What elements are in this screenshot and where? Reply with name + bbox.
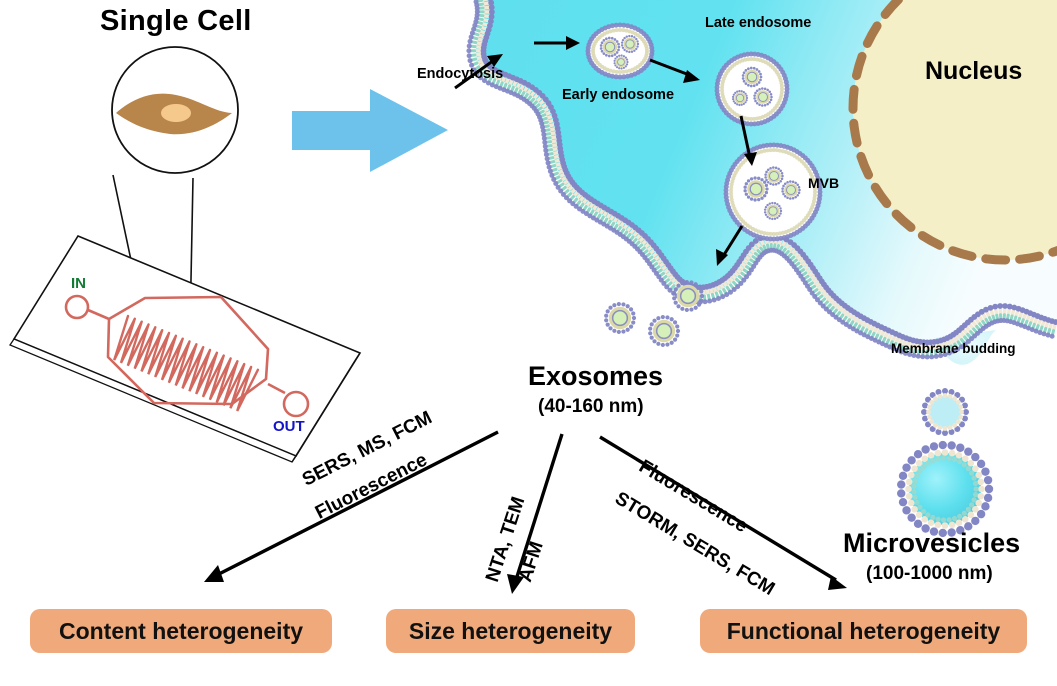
exosomes-size: (40-160 nm)	[538, 396, 644, 418]
label-membrane-budding: Membrane budding	[891, 341, 1016, 356]
label-early-endosome: Early endosome	[562, 87, 674, 103]
microvesicles-name: Microvesicles	[843, 528, 1020, 559]
outcome-box-functional[interactable]: Functional heterogeneity	[700, 609, 1027, 653]
exosomes-name: Exosomes	[528, 361, 663, 392]
label-late-endosome: Late endosome	[705, 15, 811, 31]
label-mvb: MVB	[808, 175, 839, 191]
chip-inlet-label: IN	[71, 275, 86, 292]
label-endocytosis: Endocytosis	[417, 66, 503, 82]
page-title: Single Cell	[100, 5, 252, 38]
big-blue-arrow	[292, 89, 448, 172]
outcome-box-size[interactable]: Size heterogeneity	[386, 609, 635, 653]
figure-canvas: Single Cell Endocytosis Early endosome L…	[0, 0, 1057, 686]
microvesicles-size: (100-1000 nm)	[866, 563, 993, 585]
label-nucleus: Nucleus	[925, 57, 1022, 86]
chip-outlet-label: OUT	[273, 418, 305, 435]
outcome-box-content[interactable]: Content heterogeneity	[30, 609, 332, 653]
